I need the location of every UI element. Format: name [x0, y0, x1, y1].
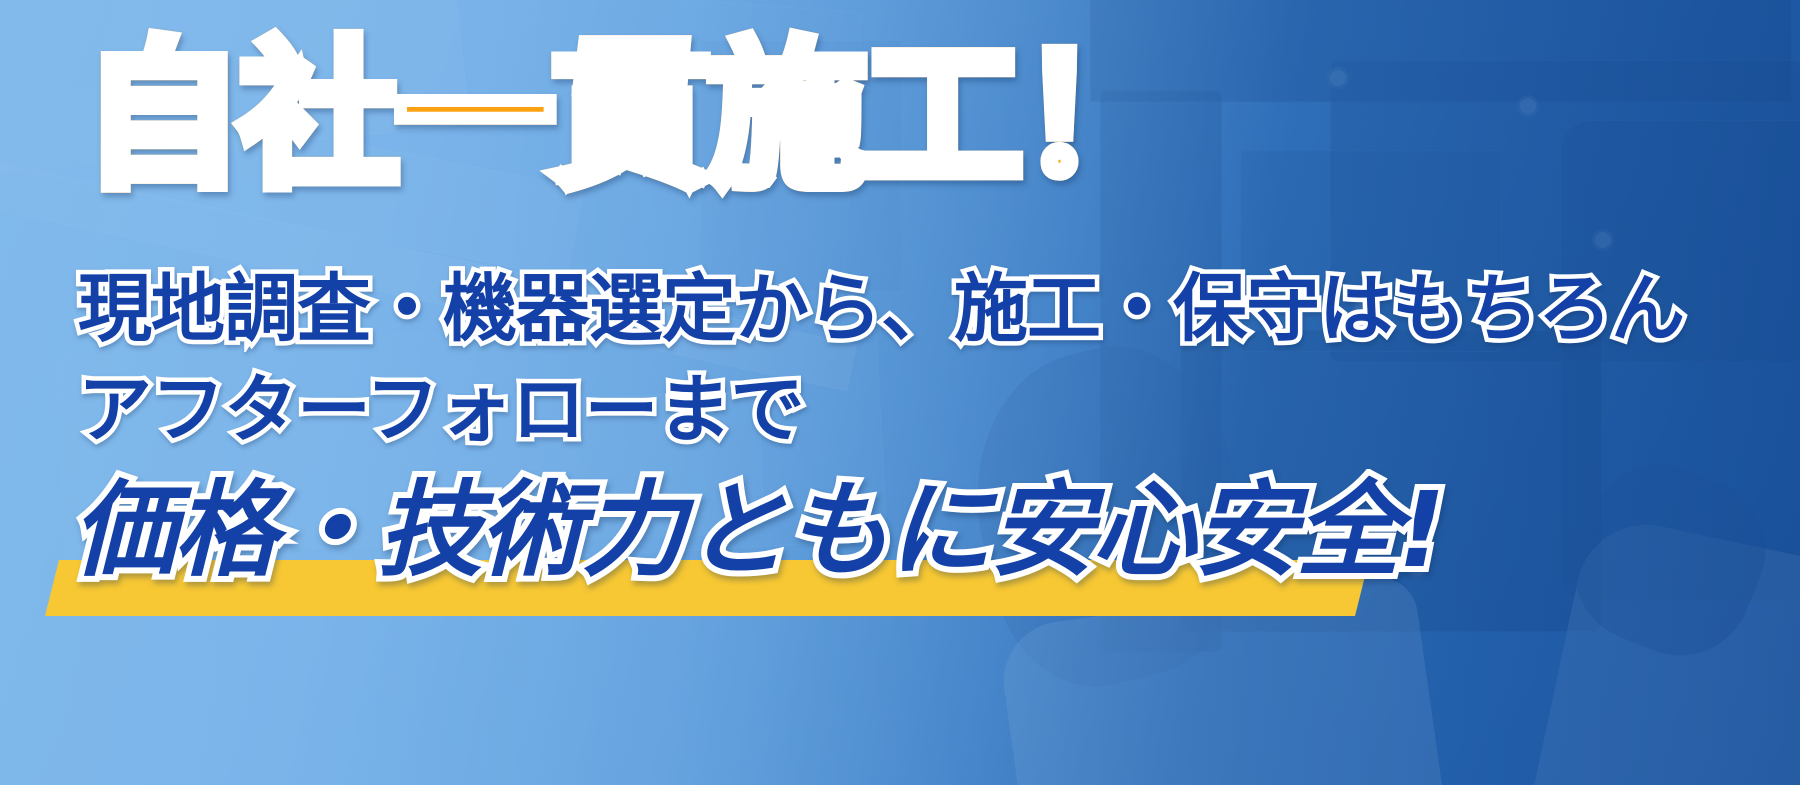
- banner-headline: 自社一貫施工！: [84, 38, 1176, 196]
- banner-headline-text: 自社一貫施工！: [84, 25, 1176, 209]
- banner-closing-line: 価格・技術力ともに安心安全!: [72, 478, 1443, 582]
- banner-subline-2: アフターフォローまで: [78, 373, 804, 447]
- banner-content: 自社一貫施工！ 現地調査・機器選定から、施工・保守はもちろん アフターフォローま…: [0, 0, 1800, 785]
- hero-banner: 自社一貫施工！ 現地調査・機器選定から、施工・保守はもちろん アフターフォローま…: [0, 0, 1800, 785]
- banner-subline-1: 現地調査・機器選定から、施工・保守はもちろん: [78, 272, 1684, 346]
